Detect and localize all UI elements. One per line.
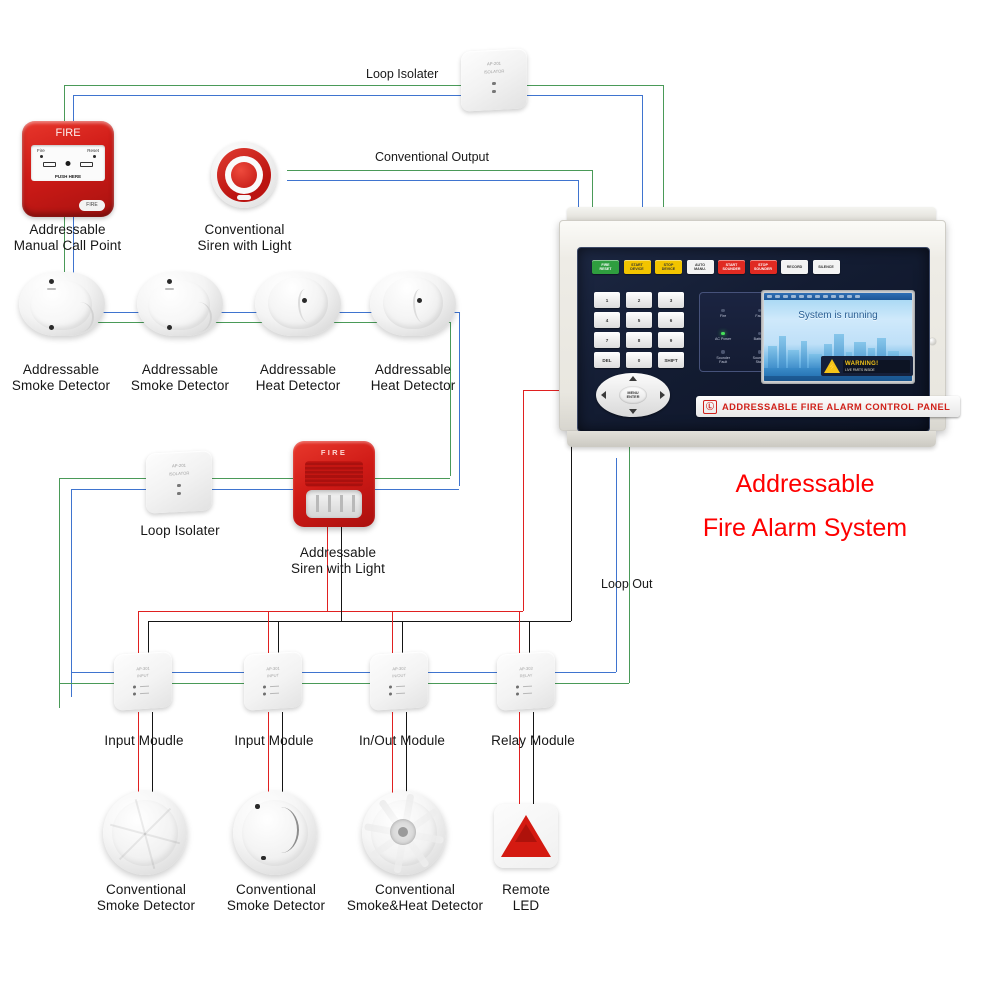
detector-dome — [30, 280, 92, 330]
wire-black-bus — [148, 621, 571, 622]
button-start-sounder-label: START SOUNDER — [723, 263, 741, 272]
mcp-arrow-right-icon — [80, 162, 93, 167]
wire-blue-mcp-down — [73, 95, 74, 121]
button-stop-device-label: STOP DEVICE — [662, 263, 675, 272]
brand-logo-icon: Ⓛ — [703, 400, 717, 414]
arrow-left-icon[interactable] — [601, 391, 606, 399]
label-conventional-smoke-detector-2: Conventional Smoke Detector — [208, 882, 344, 913]
cdet-led-bottom — [261, 856, 266, 861]
siren-slot — [237, 195, 251, 200]
led-ac-power: AC Power — [705, 321, 741, 344]
device-input-module-2[interactable]: AP-301 INPUT — [244, 651, 302, 711]
label-input-module-1: Input Moudle — [83, 733, 205, 749]
panel-keypad: 1 2 3 4 5 6 7 8 9 DEL 0 SHIFT — [594, 292, 684, 368]
arrow-right-icon[interactable] — [660, 391, 665, 399]
mcp-window-right-text: Reset — [87, 148, 99, 153]
wire-black-drop-3 — [402, 621, 403, 653]
wire-red-conv-2 — [268, 712, 269, 804]
asiren-strobe-lens — [306, 490, 362, 518]
module-tick-1 — [396, 686, 405, 688]
detector-arc — [66, 302, 94, 332]
wire-blue-left-return — [71, 489, 72, 697]
wire-green-top — [64, 85, 466, 86]
mcp-arrow-left-icon — [43, 162, 56, 167]
diagram-title: Addressable Fire Alarm System — [640, 462, 970, 550]
wire-green-mcp-down — [64, 85, 65, 121]
lcd-status-bar — [764, 293, 912, 300]
label-input-module-2: Input Module — [213, 733, 335, 749]
detector-dash — [165, 288, 174, 290]
wire-black-drop-1 — [148, 621, 149, 653]
label-addressable-siren: Addressable Siren with Light — [273, 545, 403, 576]
device-input-module-1[interactable]: AP-301 INPUT — [114, 651, 172, 711]
wire-green-left-return — [59, 478, 60, 708]
led-ac-power-label: AC Power — [715, 337, 731, 341]
mcp-center-dot — [66, 161, 71, 166]
key-7[interactable]: 7 — [594, 332, 620, 348]
button-silence-label: SILENCE — [818, 265, 834, 269]
mcp-push-text: PUSH HERE — [31, 174, 105, 179]
iso-mid-line1: AP-201 — [146, 461, 212, 469]
wire-black-drop-2 — [278, 621, 279, 653]
device-in-out-module[interactable]: AP-302 IN/OUT — [370, 651, 428, 711]
wire-blue-loopout — [616, 458, 617, 672]
device-addressable-smoke-detector-1[interactable] — [19, 272, 105, 344]
wire-red-drop-4 — [519, 611, 520, 653]
wire-green-detector-right — [450, 322, 451, 476]
menu-enter-button[interactable]: MENU ENTER — [619, 386, 647, 404]
device-addressable-smoke-detector-2[interactable] — [137, 272, 223, 344]
detector-led-bottom — [167, 325, 172, 330]
key-1[interactable]: 1 — [594, 292, 620, 308]
button-stop-sounder[interactable]: STOP SOUNDER — [750, 260, 777, 274]
wire-black-conv-1 — [152, 712, 153, 804]
key-5[interactable]: 5 — [626, 312, 652, 328]
wire-black-conv-4 — [533, 712, 534, 804]
device-relay-module[interactable]: AP-303 RELAY — [497, 651, 555, 711]
key-4[interactable]: 4 — [594, 312, 620, 328]
label-addressable-heat-detector-2: Addressable Heat Detector — [352, 362, 474, 393]
panel-body: FIRE RESET START DEVICE STOP DEVICE AUTO… — [559, 220, 946, 431]
button-start-sounder[interactable]: START SOUNDER — [718, 260, 745, 274]
label-loop-isolater-mid: Loop Isolater — [119, 523, 241, 539]
device-conventional-smoke-detector-1[interactable] — [103, 791, 187, 875]
key-shift[interactable]: SHIFT — [658, 352, 684, 368]
module-tick-2 — [396, 693, 405, 695]
fire-alarm-system-diagram: Loop Isolater Conventional Output Loop O… — [0, 0, 1000, 1000]
addressable-fire-alarm-control-panel[interactable]: FIRE RESET START DEVICE STOP DEVICE AUTO… — [559, 207, 944, 447]
button-stop-device[interactable]: STOP DEVICE — [655, 260, 682, 274]
wire-red-conv-3 — [392, 712, 393, 804]
button-start-device[interactable]: START DEVICE — [624, 260, 651, 274]
button-fire-reset[interactable]: FIRE RESET — [592, 260, 619, 274]
mcp-window: Fire Reset PUSH HERE — [31, 145, 105, 181]
button-stop-sounder-label: STOP SOUNDER — [754, 263, 772, 272]
mcp-window-left-text: Fire — [37, 148, 45, 153]
device-loop-isolater-mid[interactable]: AP-201 ISOLATOR — [146, 450, 212, 513]
remote-led-triangle-inner — [515, 824, 537, 842]
panel-button-row: FIRE RESET START DEVICE STOP DEVICE AUTO… — [592, 260, 840, 274]
wire-green-conv-out-down — [592, 170, 593, 207]
label-addressable-smoke-detector-1: Addressable Smoke Detector — [0, 362, 122, 393]
wire-blue-detector-right — [459, 312, 460, 486]
module-line2: IN/OUT — [370, 671, 428, 680]
module-line2: INPUT — [114, 671, 172, 680]
device-addressable-heat-detector-2[interactable] — [370, 272, 456, 344]
wire-blue-left-top — [71, 489, 149, 490]
wire-blue-top — [73, 95, 466, 96]
device-conventional-smoke-heat-detector[interactable] — [362, 791, 446, 875]
lcd-footer-bar — [764, 376, 912, 381]
device-manual-call-point[interactable]: FIRE Fire Reset PUSH HERE FIRE — [22, 121, 114, 217]
detector-led-top — [167, 279, 172, 284]
button-silence[interactable]: SILENCE — [813, 260, 840, 274]
wire-blue-top-down — [642, 95, 643, 207]
asiren-grill — [305, 461, 363, 487]
wire-blue-conv-out-down — [578, 180, 579, 207]
mcp-top-text: FIRE — [22, 127, 114, 139]
wire-blue-conv-out — [287, 180, 578, 181]
module-led-1 — [263, 685, 266, 688]
wire-green-left-top — [59, 478, 149, 479]
key-2[interactable]: 2 — [626, 292, 652, 308]
wire-green-conv-out — [287, 170, 592, 171]
label-conventional-siren-round: Conventional Siren with Light — [177, 222, 312, 253]
module-tick-2 — [523, 693, 532, 695]
module-tick-1 — [523, 686, 532, 688]
mcp-badge: FIRE — [79, 200, 105, 211]
label-remote-led: Remote LED — [470, 882, 582, 913]
detector-led — [302, 298, 307, 303]
detector-vane — [298, 289, 316, 323]
iso-mid-line2: ISOLATOR — [146, 469, 212, 477]
key-6[interactable]: 6 — [658, 312, 684, 328]
wire-black-drop-4 — [529, 621, 530, 653]
module-tick-1 — [270, 686, 279, 688]
wire-blue-top-right — [522, 95, 642, 96]
panel-warning-label: WARNING! LIVE PARTS INSIDE — [821, 356, 913, 376]
panel-navigation-pad[interactable]: MENU ENTER — [596, 373, 670, 417]
wire-red-conv-1 — [138, 712, 139, 804]
led-fire-dot — [721, 309, 724, 312]
led-fire: Fire — [705, 298, 741, 321]
panel-face: FIRE RESET START DEVICE STOP DEVICE AUTO… — [577, 247, 930, 432]
cdet-curve — [263, 807, 299, 853]
led-sounder-fault-label: Sounder Fault — [716, 356, 730, 364]
mcp-led-right — [93, 155, 96, 158]
detector-led-top — [49, 279, 54, 284]
cdet-led-top — [255, 804, 260, 809]
mcp-led-left — [40, 155, 43, 158]
module-led-1 — [516, 685, 519, 688]
led-sounder-fault-dot — [721, 350, 724, 353]
label-conventional-smoke-detector-1: Conventional Smoke Detector — [78, 882, 214, 913]
device-conventional-smoke-detector-2[interactable] — [233, 791, 317, 875]
detector-arc — [184, 302, 212, 332]
label-addressable-heat-detector-1: Addressable Heat Detector — [237, 362, 359, 393]
detector-vane — [413, 289, 431, 323]
label-conventional-output: Conventional Output — [375, 150, 489, 164]
module-tick-2 — [270, 693, 279, 695]
warning-hazard-icon — [824, 359, 840, 373]
warning-title: WARNING! — [845, 361, 908, 368]
asiren-fire-text: FIRE — [293, 448, 375, 457]
iso-top-line1: AP-201 — [461, 59, 527, 67]
device-loop-isolater-top[interactable]: AP-201 ISOLATOR — [461, 48, 527, 111]
iso-top-led-1 — [492, 82, 495, 85]
wire-red-drop-3 — [392, 611, 393, 653]
module-led-2 — [516, 692, 519, 695]
key-9[interactable]: 9 — [658, 332, 684, 348]
iso-top-led-2 — [492, 90, 495, 93]
label-loop-out: Loop Out — [601, 577, 652, 591]
detector-led-bottom — [49, 325, 54, 330]
label-manual-call-point: Addressable Manual Call Point — [0, 222, 135, 253]
panel-name-plate: Ⓛ ADDRESSABLE FIRE ALARM CONTROL PANEL — [696, 396, 960, 417]
wire-green-iso-row-2 — [372, 478, 450, 479]
arrow-down-icon[interactable] — [629, 409, 637, 414]
led-sounder-fault: Sounder Fault — [705, 343, 741, 366]
wire-green-loopout — [629, 447, 630, 683]
key-3[interactable]: 3 — [658, 292, 684, 308]
led-ac-power-dot — [721, 332, 724, 335]
key-0[interactable]: 0 — [626, 352, 652, 368]
label-relay-module: Relay Module — [472, 733, 594, 749]
button-auto-manu[interactable]: AUTO MANU. — [687, 260, 714, 274]
device-conventional-siren-round[interactable] — [211, 142, 277, 208]
module-line2: INPUT — [244, 671, 302, 680]
cdet-thermistor-hub — [390, 819, 416, 845]
iso-top-line2: ISOLATOR — [461, 67, 527, 75]
module-led-1 — [133, 685, 136, 688]
key-8[interactable]: 8 — [626, 332, 652, 348]
panel-name-plate-text: ADDRESSABLE FIRE ALARM CONTROL PANEL — [722, 402, 950, 412]
device-remote-led[interactable] — [494, 804, 558, 868]
iso-mid-led-2 — [177, 492, 180, 495]
module-line2: RELAY — [497, 671, 555, 680]
button-start-device-label: START DEVICE — [630, 263, 643, 272]
label-in-out-module: In/Out Module — [341, 733, 463, 749]
arrow-up-icon[interactable] — [629, 376, 637, 381]
warning-subtitle: LIVE PARTS INSIDE — [845, 368, 908, 372]
wire-red-panel-down — [523, 390, 524, 611]
siren-ring-inner — [231, 162, 257, 188]
wire-green-top-right — [522, 85, 663, 86]
device-addressable-siren[interactable]: FIRE — [293, 441, 375, 527]
wire-red-drop-2 — [268, 611, 269, 653]
module-led-2 — [133, 692, 136, 695]
module-tick-2 — [140, 693, 149, 695]
detector-led — [417, 298, 422, 303]
warning-text-block: WARNING! LIVE PARTS INSIDE — [843, 360, 910, 373]
key-delete[interactable]: DEL — [594, 352, 620, 368]
label-addressable-smoke-detector-2: Addressable Smoke Detector — [119, 362, 241, 393]
device-addressable-heat-detector-1[interactable] — [255, 272, 341, 344]
iso-mid-led-1 — [177, 484, 180, 487]
wire-red-conv-4 — [519, 712, 520, 804]
module-led-2 — [389, 692, 392, 695]
wire-black-conv-2 — [282, 712, 283, 804]
label-loop-isolater-top: Loop Isolater — [366, 67, 438, 81]
module-led-1 — [389, 685, 392, 688]
button-auto-manu-label: AUTO MANU. — [694, 263, 706, 272]
lcd-status-message: System is running — [764, 310, 912, 321]
detector-dome — [268, 277, 328, 329]
detector-dome — [383, 277, 443, 329]
wire-blue-iso-row-2 — [372, 489, 459, 490]
button-record[interactable]: RECORD — [781, 260, 808, 274]
detector-dash — [47, 288, 56, 290]
panel-lock-screw[interactable] — [929, 338, 936, 345]
button-fire-reset-label: FIRE RESET — [600, 263, 612, 272]
wire-red-bus — [138, 611, 523, 612]
menu-enter-label: MENU ENTER — [627, 391, 640, 400]
module-tick-1 — [140, 686, 149, 688]
wire-green-top-down — [663, 85, 664, 207]
led-fire-label: Fire — [720, 314, 726, 318]
button-record-label: RECORD — [787, 265, 803, 269]
wire-red-drop-1 — [138, 611, 139, 653]
detector-dome — [148, 280, 210, 330]
module-led-2 — [263, 692, 266, 695]
panel-foot — [567, 431, 936, 447]
